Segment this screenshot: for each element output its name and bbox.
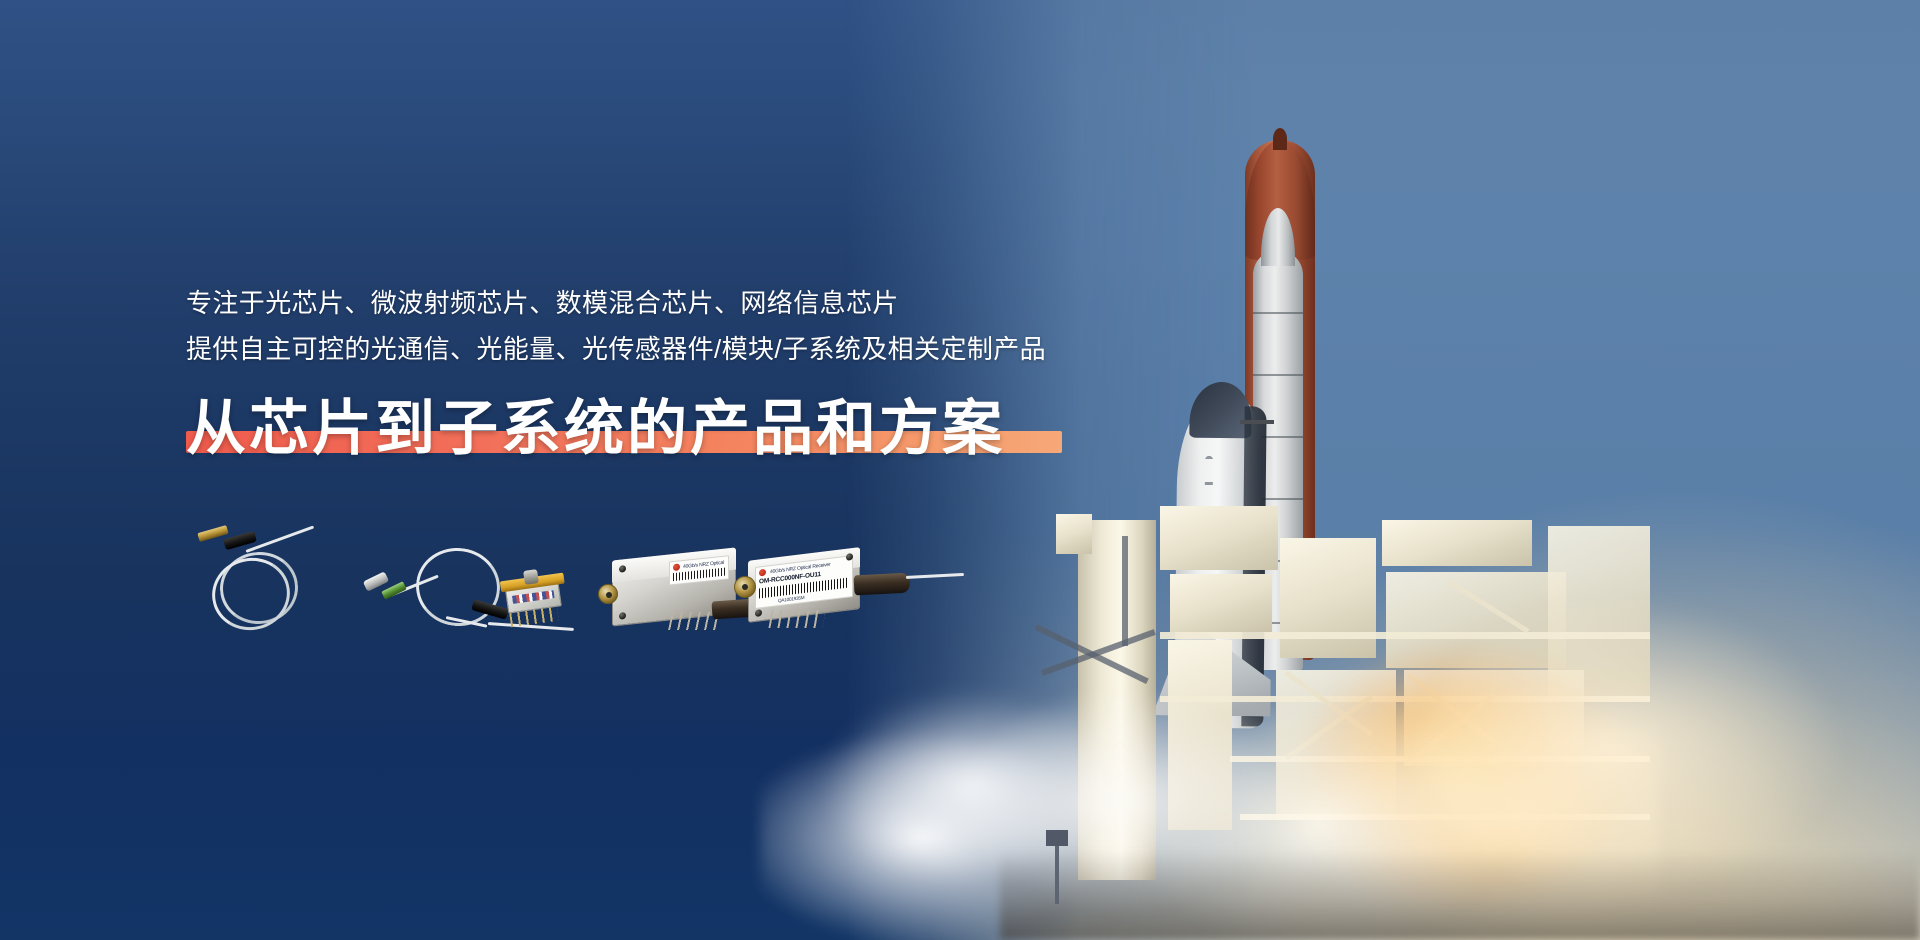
product-optical-receiver-module: 40Gb/s NRZ Optical Receiver OM-RCC000NF-…: [732, 536, 962, 648]
page-title: 从芯片到子系统的产品和方案: [186, 395, 1005, 462]
sma-connector-icon: [598, 584, 618, 604]
screw-icon-2: [755, 609, 762, 617]
subtitle-line-2: 提供自主可控的光通信、光能量、光传感器件/模块/子系统及相关定制产品: [186, 326, 1226, 372]
tower-block-e: [1382, 520, 1532, 566]
floodlight-icon: [1055, 842, 1059, 904]
subtitle-line-1: 专注于光芯片、微波射频芯片、数模混合芯片、网络信息芯片: [186, 280, 1226, 326]
product-butterfly-laser-module: [478, 558, 588, 648]
receiver-pins-icon: [768, 610, 825, 628]
hero-copy: 专注于光芯片、微波射频芯片、数模混合芯片、网络信息芯片 提供自主可控的光通信、光…: [186, 280, 1226, 462]
package-label-icon: [512, 590, 555, 604]
sma-connector-icon: [734, 576, 756, 598]
screw-icon-2: [619, 612, 626, 620]
fiber-lead-icon: [906, 573, 964, 579]
strut-upper-icon: [1240, 420, 1274, 424]
connector-ferrule-icon: [381, 581, 407, 600]
ground-shadow: [1000, 850, 1920, 940]
product-fiber-pigtail-coil-large: [186, 528, 346, 638]
headline-group: 从芯片到子系统的产品和方案: [186, 395, 1005, 462]
barcode-icon: [673, 568, 725, 581]
package-window-icon: [523, 569, 539, 585]
product-showcase: 40Gb/s NRZ Optical Receiver 40Gb/s NRZ O…: [186, 528, 1216, 648]
module-label: 40Gb/s NRZ Optical Receiver: [669, 555, 729, 585]
hero-banner: 专注于光芯片、微波射频芯片、数模混合芯片、网络信息芯片 提供自主可控的光通信、光…: [0, 0, 1920, 940]
external-tank-tip-icon: [1273, 128, 1287, 150]
fiber-pigtail-boot-icon: [854, 573, 911, 596]
brand-logo-icon: [759, 569, 766, 577]
brand-logo-icon: [673, 563, 680, 571]
